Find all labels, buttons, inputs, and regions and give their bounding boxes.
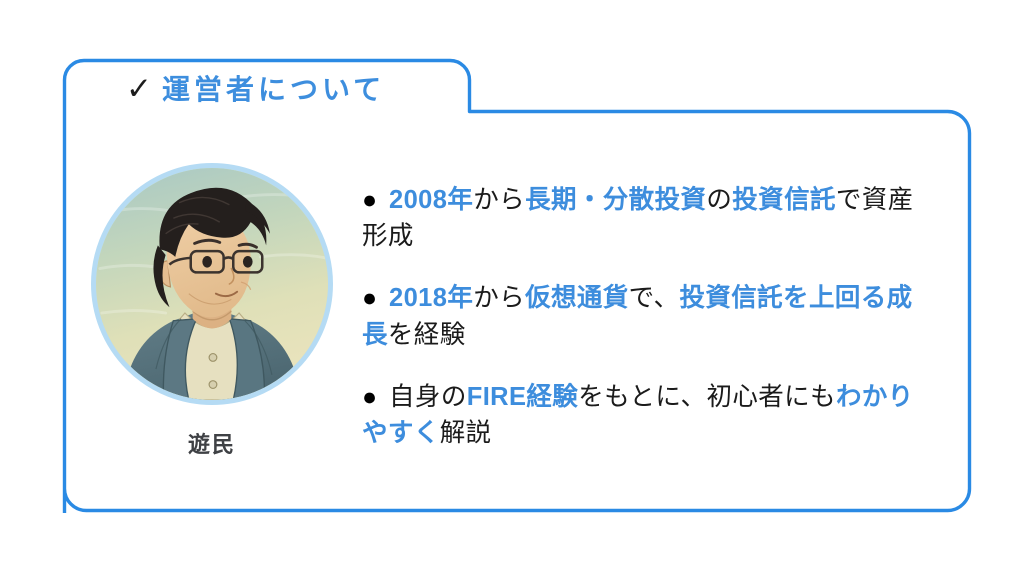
- avatar-illustration: [96, 168, 328, 400]
- bullet-text-segment: を経験: [388, 321, 466, 349]
- bullet-text-segment: で、: [629, 284, 680, 312]
- bullet-text-segment: から: [473, 284, 525, 312]
- bullet-dot-icon: ●: [362, 186, 378, 214]
- profile-block: 遊民: [62, 122, 362, 459]
- bullet-text-segment: 長期・分散投資: [525, 186, 706, 214]
- card-title-text: 運営者について: [162, 76, 385, 104]
- bullet-text-segment: 解説: [440, 419, 492, 447]
- bullet-text-segment: 投資信託: [732, 186, 836, 214]
- bullet-item: ● 2018年から仮想通貨で、投資信託を上回る成長を経験: [362, 280, 934, 353]
- bullet-item: ● 自身のFIRE経験をもとに、初心者にもわかりやすく解説: [362, 379, 934, 452]
- bullet-text-segment: 2008年: [389, 186, 473, 214]
- bullet-text-segment: 2018年: [389, 284, 473, 312]
- check-icon: ✓: [126, 73, 152, 104]
- bullet-text-segment: FIRE経験: [467, 383, 579, 411]
- profile-name: 遊民: [188, 427, 236, 459]
- bullet-text-segment: 仮想通貨: [525, 284, 629, 312]
- bullet-text-segment: の: [706, 186, 732, 214]
- bullet-item: ● 2008年から長期・分散投資の投資信託で資産形成: [362, 182, 934, 255]
- about-author-card: ✓ 運営者について: [62, 58, 972, 513]
- bullet-dot-icon: ●: [362, 383, 378, 411]
- bullet-list: ● 2008年から長期・分散投資の投資信託で資産形成● 2018年から仮想通貨で…: [362, 122, 972, 452]
- bullet-text-segment: から: [473, 186, 525, 214]
- card-body: 遊民 ● 2008年から長期・分散投資の投資信託で資産形成● 2018年から仮想…: [62, 122, 972, 513]
- bullet-dot-icon: ●: [362, 284, 378, 312]
- bullet-text-segment: 自身の: [389, 383, 467, 411]
- card-tab-title: ✓ 運営者について: [126, 74, 385, 105]
- bullet-text-segment: をもとに、初心者にも: [578, 383, 836, 411]
- avatar: [91, 163, 333, 405]
